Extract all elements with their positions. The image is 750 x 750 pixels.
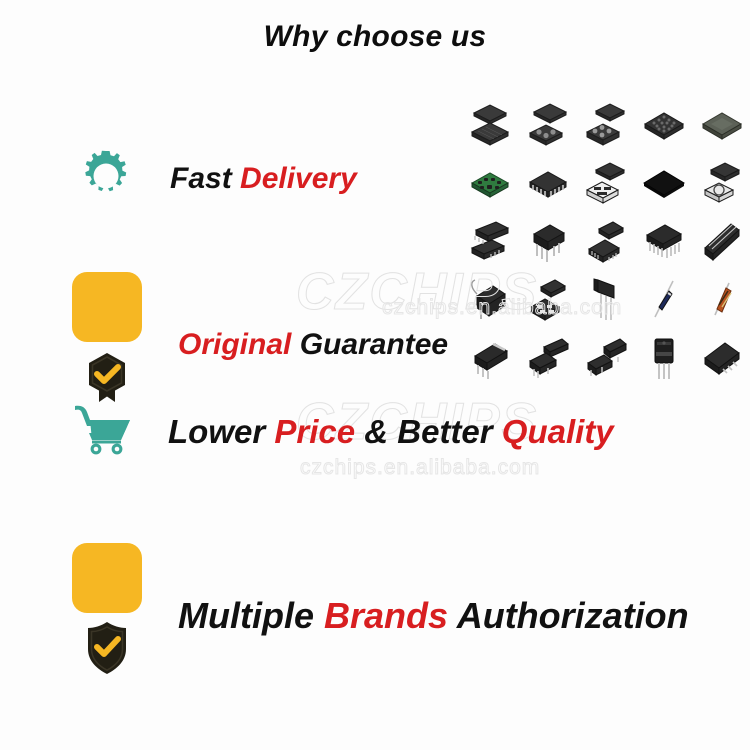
collage-item-bga-substrate — [694, 96, 750, 152]
collage-item-inductor-coil — [462, 271, 518, 327]
collage-item-qfn-leadframe — [520, 154, 576, 210]
feature-row-lower-price-better-quality: Lower Price & Better Quality — [72, 400, 614, 463]
collage-item-qfn-green-pcb — [462, 154, 518, 210]
feature-text-space — [232, 162, 240, 195]
collage-item-soic-8 — [694, 330, 750, 386]
feature-text-space — [493, 413, 502, 450]
collage-item-sot-23-pair — [578, 330, 634, 386]
feature-text-part-accent: Delivery — [240, 162, 357, 195]
feature-text-part-accent: Original — [178, 328, 291, 361]
collage-item-melf-resistor — [694, 271, 750, 327]
feature-text-part-accent: Brands — [324, 595, 448, 636]
feature-row-original-guarantee: Original Guarantee — [72, 272, 448, 417]
feature-text-part: Lower — [168, 413, 265, 450]
collage-item-sot-89-pair — [520, 330, 576, 386]
collage-item-flat-black-die — [636, 154, 692, 210]
why-choose-us-banner: Why choose us — [0, 0, 750, 750]
feature-label-fast-delivery: Fast Delivery — [170, 164, 357, 194]
shopping-cart-icon — [72, 400, 134, 463]
collage-item-axial-diode — [636, 271, 692, 327]
feature-text-space — [265, 413, 274, 450]
feature-text-part: Multiple — [178, 595, 314, 636]
collage-item-qfp-stack — [462, 96, 518, 152]
collage-item-soic-pair — [462, 213, 518, 269]
feature-text-space — [314, 595, 324, 636]
feature-text-part: Guarantee — [300, 328, 448, 361]
feature-text-space — [448, 595, 457, 636]
collage-item-to-92-transistor — [578, 271, 634, 327]
feature-text-part: Better — [397, 413, 492, 450]
badge-check-icon — [72, 272, 142, 417]
feature-text-part-accent: Price — [274, 413, 355, 450]
feature-row-multiple-brands-authorization: Multiple Brands Authorization — [72, 543, 689, 688]
collage-item-bga-balls — [578, 96, 634, 152]
collage-item-mlp-open — [694, 154, 750, 210]
feature-text-space — [291, 328, 299, 361]
shield-check-icon — [72, 543, 142, 688]
collage-item-dip-16 — [636, 213, 692, 269]
collage-item-tssop-pair — [578, 213, 634, 269]
feature-label-lower-price-better-quality: Lower Price & Better Quality — [168, 415, 614, 448]
feature-text-part: Authorization — [457, 595, 689, 636]
feature-row-fast-delivery: Fast Delivery — [78, 148, 357, 209]
feature-label-multiple-brands-authorization: Multiple Brands Authorization — [178, 598, 689, 634]
collage-item-bga-open — [520, 96, 576, 152]
gear-icon — [78, 148, 134, 209]
collage-item-dip-6 — [520, 213, 576, 269]
collage-item-sip-module — [694, 213, 750, 269]
collage-item-dfn-open — [520, 271, 576, 327]
product-collage — [462, 96, 750, 386]
feature-text-part-accent: Quality — [502, 413, 614, 450]
feature-text-part: Fast — [170, 162, 232, 195]
page-title: Why choose us — [0, 20, 750, 54]
collage-item-to-220 — [636, 330, 692, 386]
collage-item-lga-open — [578, 154, 634, 210]
collage-item-bga-array — [636, 96, 692, 152]
feature-text-conjunction: & — [355, 413, 397, 450]
feature-label-original-guarantee: Original Guarantee — [178, 330, 448, 360]
collage-item-sot-223 — [462, 330, 518, 386]
